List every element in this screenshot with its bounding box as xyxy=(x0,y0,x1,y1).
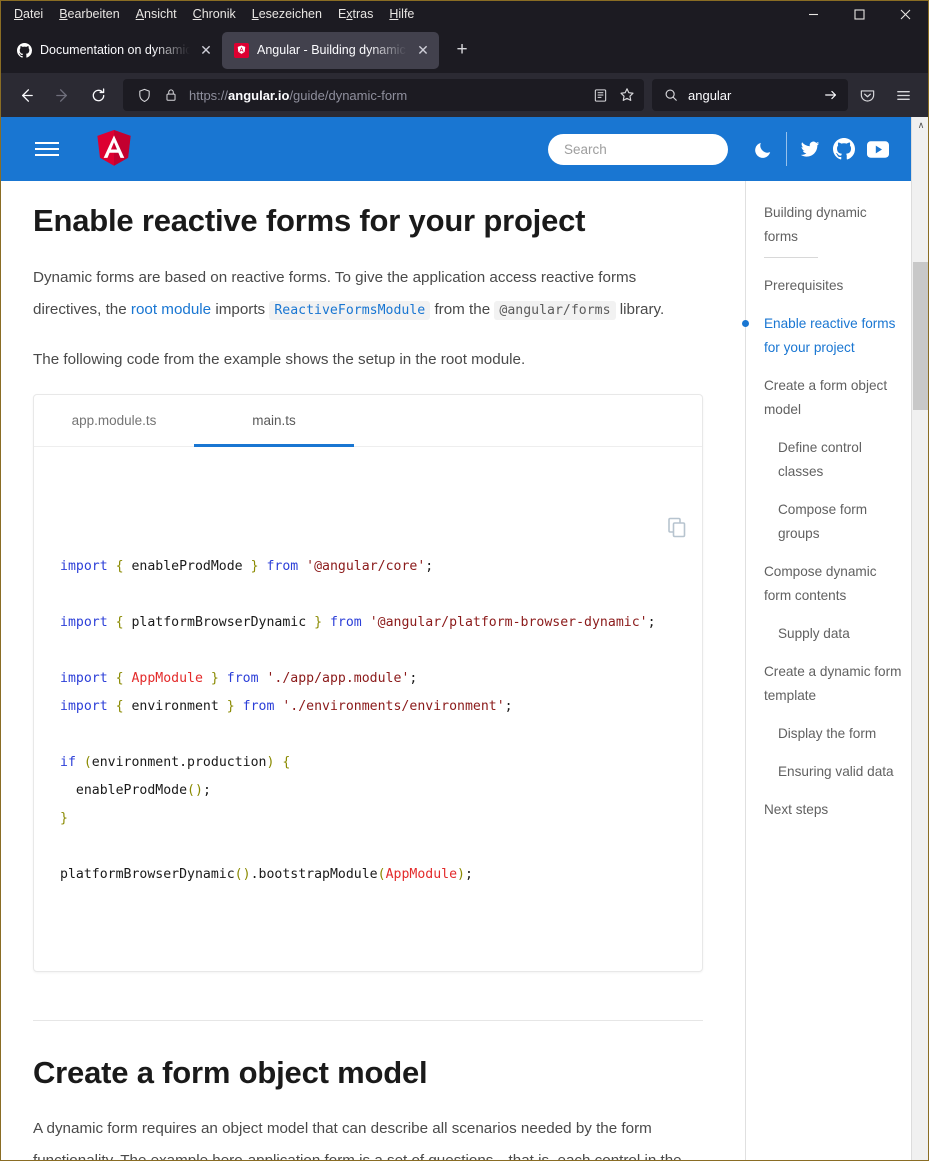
close-button[interactable] xyxy=(882,1,928,27)
code-line: platformBrowserDynamic().bootstrapModule… xyxy=(60,861,676,889)
code-token: enableProdMode xyxy=(124,559,251,574)
menu-item-lesezeichen[interactable]: Lesezeichen xyxy=(245,4,329,24)
tab-angular-building-dynamic-forms[interactable]: Angular - Building dynamic form ✕ xyxy=(222,32,439,69)
toc-item[interactable]: Create a form object model xyxy=(764,374,903,422)
code-token: ( xyxy=(84,755,92,770)
code-line: import { AppModule } from './app/app.mod… xyxy=(60,665,676,693)
code-token: './environments/environment' xyxy=(282,699,504,714)
url-host: angular.io xyxy=(228,88,289,103)
github-icon[interactable] xyxy=(827,132,861,166)
site-search-placeholder: Search xyxy=(564,142,607,157)
code-token: ; xyxy=(648,615,656,630)
code-token: AppModule xyxy=(386,867,457,882)
code-lines: import { enableProdMode } from '@angular… xyxy=(60,553,676,889)
page-scrollbar[interactable]: ∧ xyxy=(911,117,929,1161)
code-token: } xyxy=(227,699,235,714)
code-token: if xyxy=(60,755,84,770)
page-title: Enable reactive forms for your project xyxy=(33,203,703,240)
toc-item[interactable]: Ensuring valid data xyxy=(764,760,903,784)
angular-icon xyxy=(233,42,249,58)
code-token: import xyxy=(60,699,116,714)
browser-window: Datei Bearbeiten Ansicht Chronik Lesezei… xyxy=(0,0,929,1161)
code-token: from xyxy=(322,615,370,630)
code-token: ; xyxy=(465,867,473,882)
angular-logo[interactable] xyxy=(95,129,133,169)
paragraph-following-code: The following code from the example show… xyxy=(33,344,703,376)
toc-item[interactable]: Compose dynamic form contents xyxy=(764,560,903,608)
code-token: { xyxy=(116,615,124,630)
paragraph-intro: Dynamic forms are based on reactive form… xyxy=(33,262,703,327)
github-icon xyxy=(16,42,32,58)
search-bar[interactable]: angular xyxy=(652,79,848,111)
shield-icon[interactable] xyxy=(135,88,153,103)
header-divider xyxy=(786,132,787,166)
search-go-icon[interactable] xyxy=(822,87,840,103)
code-line xyxy=(60,721,676,749)
menu-item-hilfe[interactable]: Hilfe xyxy=(382,4,421,24)
menu-accesskey: A xyxy=(136,7,144,21)
menu-label: hronik xyxy=(202,7,236,21)
code-token: ( xyxy=(378,867,386,882)
menu-item-extras[interactable]: Extras xyxy=(331,4,380,24)
copy-icon[interactable] xyxy=(664,459,690,485)
code-tab-main-ts[interactable]: main.ts xyxy=(194,395,354,446)
code-tab-app-module-ts[interactable]: app.module.ts xyxy=(34,395,194,446)
code-token: ; xyxy=(425,559,433,574)
menu-label: ilfe xyxy=(398,7,414,21)
menu-item-chronik[interactable]: Chronik xyxy=(186,4,243,24)
hamburger-menu-icon[interactable] xyxy=(35,134,65,164)
tab-close-icon[interactable]: ✕ xyxy=(198,43,214,57)
code-token: platformBrowserDynamic xyxy=(60,867,235,882)
new-tab-button[interactable]: + xyxy=(447,35,477,65)
menu-item-bearbeiten[interactable]: Bearbeiten xyxy=(52,4,126,24)
url-path: /guide/dynamic-form xyxy=(289,88,407,103)
code-token: environment xyxy=(124,699,227,714)
code-block: import { enableProdMode } from '@angular… xyxy=(34,447,702,971)
menu-label: esezeichen xyxy=(259,7,322,21)
doc-body: Enable reactive forms for your project D… xyxy=(1,181,911,1161)
menu-accesskey: B xyxy=(59,7,67,21)
url-text: https://angular.io/guide/dynamic-form xyxy=(189,88,582,103)
code-token: from xyxy=(259,559,307,574)
code-token: () xyxy=(187,783,203,798)
window-controls xyxy=(790,1,928,27)
root-module-link[interactable]: root module xyxy=(131,301,211,318)
site-header: Search xyxy=(1,117,911,181)
reader-view-icon[interactable] xyxy=(591,88,609,103)
code-token: import xyxy=(60,671,116,686)
minimize-button[interactable] xyxy=(790,1,836,27)
code-token: } xyxy=(203,671,219,686)
code-token: } xyxy=(314,615,322,630)
code-line xyxy=(60,637,676,665)
back-button[interactable] xyxy=(9,79,43,111)
menu-label: atei xyxy=(23,7,43,21)
code-token: '@angular/core' xyxy=(306,559,425,574)
paragraph-text: from the xyxy=(430,301,494,318)
code-token: } xyxy=(60,811,68,826)
toc-item[interactable]: Define control classes xyxy=(764,436,903,484)
app-menu-button[interactable] xyxy=(886,79,920,111)
menu-accesskey: D xyxy=(14,7,23,21)
pocket-icon[interactable] xyxy=(850,79,884,111)
search-input[interactable]: angular xyxy=(688,88,814,103)
menu-accesskey: L xyxy=(252,7,259,21)
search-icon xyxy=(662,88,680,102)
code-line: enableProdMode(); xyxy=(60,777,676,805)
code-line: } xyxy=(60,805,676,833)
url-scheme: https:// xyxy=(189,88,228,103)
tab-documentation-on-dynamic-forms[interactable]: Documentation on dynamic for ✕ xyxy=(5,32,222,69)
toc-item[interactable]: Prerequisites xyxy=(764,274,903,298)
code-line: if (environment.production) { xyxy=(60,749,676,777)
code-token: import xyxy=(60,559,116,574)
code-token: ; xyxy=(409,671,417,686)
paragraph-text: imports xyxy=(211,301,269,318)
paragraph-object-model: A dynamic form requires an object model … xyxy=(33,1113,703,1161)
youtube-icon[interactable] xyxy=(861,132,895,166)
page-viewport: Search xyxy=(1,117,929,1161)
doc-main-column: Enable reactive forms for your project D… xyxy=(1,181,735,1161)
code-line: import { environment } from './environme… xyxy=(60,693,676,721)
menu-label: nsicht xyxy=(144,7,177,21)
code-token: { xyxy=(116,671,132,686)
navigation-toolbar: https://angular.io/guide/dynamic-form an… xyxy=(1,73,928,117)
forward-button[interactable] xyxy=(45,79,79,111)
code-token: ; xyxy=(505,699,513,714)
tab-strip: Documentation on dynamic for ✕ Angular -… xyxy=(1,27,928,73)
toc-item[interactable]: Enable reactive forms for your project xyxy=(764,312,903,360)
code-line xyxy=(60,833,676,861)
reload-button[interactable] xyxy=(81,79,115,111)
paragraph-text: library. xyxy=(616,301,665,318)
code-token: import xyxy=(60,615,116,630)
dark-mode-moon-icon[interactable] xyxy=(746,132,780,166)
section-divider xyxy=(33,1020,703,1021)
tab-title: Documentation on dynamic for xyxy=(40,43,190,57)
tab-title: Angular - Building dynamic form xyxy=(257,43,407,57)
code-token: () xyxy=(235,867,251,882)
code-example-card: app.module.ts main.ts import { enablePro… xyxy=(33,394,703,972)
code-token: { xyxy=(282,755,290,770)
code-token: AppModule xyxy=(131,671,202,686)
url-bar[interactable]: https://angular.io/guide/dynamic-form xyxy=(123,79,644,111)
menu-item-ansicht[interactable]: Ansicht xyxy=(129,4,184,24)
code-token: ; xyxy=(203,783,211,798)
menu-accesskey: C xyxy=(193,7,202,21)
toc-item[interactable]: Next steps xyxy=(764,798,903,822)
code-token: '@angular/platform-browser-dynamic' xyxy=(370,615,648,630)
lock-icon[interactable] xyxy=(162,88,180,102)
code-token: { xyxy=(116,559,124,574)
code-token: from xyxy=(235,699,283,714)
menu-item-datei[interactable]: Datei xyxy=(7,4,50,24)
toc-item[interactable]: Building dynamic forms xyxy=(764,201,903,249)
scrollbar-thumb[interactable] xyxy=(913,262,929,410)
code-line xyxy=(60,581,676,609)
toc-divider xyxy=(764,257,818,258)
code-token: .bootstrapModule xyxy=(251,867,378,882)
site-header-right: Search xyxy=(548,132,895,166)
code-token: platformBrowserDynamic xyxy=(124,615,315,630)
inline-code-reactiveformsmodule: ReactiveFormsModule xyxy=(269,301,430,320)
section-title-create-form-object-model: Create a form object model xyxy=(33,1055,703,1092)
table-of-contents: Building dynamic formsPrerequisitesEnabl… xyxy=(745,181,911,1161)
web-page: Search xyxy=(1,117,911,1161)
code-line: import { enableProdMode } from '@angular… xyxy=(60,553,676,581)
star-icon[interactable] xyxy=(618,87,636,103)
scroll-up-arrow-icon[interactable]: ∧ xyxy=(912,117,929,134)
toc-item[interactable]: Compose form groups xyxy=(764,498,903,546)
code-token: } xyxy=(251,559,259,574)
site-search-input[interactable]: Search xyxy=(548,134,728,165)
menu-label: earbeiten xyxy=(68,7,120,21)
code-token: enableProdMode xyxy=(60,783,187,798)
tab-close-icon[interactable]: ✕ xyxy=(415,43,431,57)
code-token: './app/app.module' xyxy=(266,671,409,686)
code-token: ) xyxy=(457,867,465,882)
twitter-icon[interactable] xyxy=(793,132,827,166)
code-token: { xyxy=(116,699,124,714)
maximize-button[interactable] xyxy=(836,1,882,27)
menu-bar: Datei Bearbeiten Ansicht Chronik Lesezei… xyxy=(1,1,928,27)
code-token: environment.production xyxy=(92,755,267,770)
inline-code-angular-forms: @angular/forms xyxy=(494,301,615,320)
toc-item[interactable]: Supply data xyxy=(764,622,903,646)
code-tabs: app.module.ts main.ts xyxy=(34,395,702,447)
menu-label: tras xyxy=(353,7,374,21)
code-line: import { platformBrowserDynamic } from '… xyxy=(60,609,676,637)
toc-item[interactable]: Create a dynamic form template xyxy=(764,660,903,708)
toc-item[interactable]: Display the form xyxy=(764,722,903,746)
toc-list: Building dynamic formsPrerequisitesEnabl… xyxy=(746,201,911,822)
code-token: from xyxy=(219,671,267,686)
